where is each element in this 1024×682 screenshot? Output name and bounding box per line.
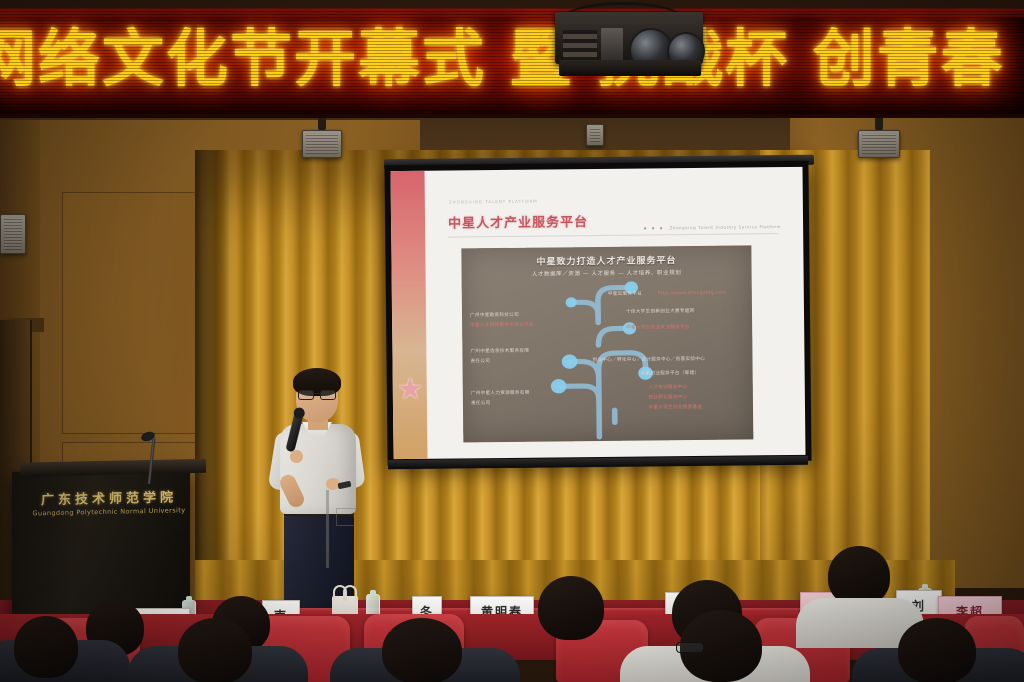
diagram-label: 广州中星信息技术服务有限 [470, 348, 529, 356]
eyeglasses-icon [297, 390, 337, 398]
eyeglasses-icon [676, 642, 704, 653]
diagram-label: http://www.zhongxing.com [658, 290, 727, 298]
slide-meta-dots: ▪ ▪ ▪ [644, 225, 665, 230]
speaker-mount [875, 116, 883, 130]
ceiling-projector-icon [555, 2, 703, 74]
projection-screen: ★ ZHONGXING TALENT PLATFORM 中星人才产业服务平台 ▪… [384, 161, 811, 465]
shirt-pocket [336, 508, 358, 526]
slide-meta-text: Zhongxing Talent Industry Service Platfo… [669, 224, 781, 230]
audience-head [178, 618, 252, 682]
slide-diagram: 中星致力打造人才产业服务平台 人才数据库／资源 — 人才服务 — 人才培养、职业… [461, 245, 753, 442]
wall-speaker-icon [302, 130, 342, 158]
projector-body [555, 12, 703, 64]
diagram-label: · 创业孵化服务中心 [645, 394, 688, 402]
diagram-label: 责任公司 [471, 400, 491, 407]
auditorium-photo: 网络文化节开幕式 暨 挑战杯 创青春 ★ ZHONGXING TALENT PL… [0, 0, 1024, 682]
star-icon: ★ [397, 377, 423, 403]
diagram-label: · 人才培训服务中心 [645, 384, 688, 392]
diagram-label: 责任公司 [470, 358, 490, 365]
diagram-label: 中星创业服务平台（筹建） [641, 370, 700, 378]
lectern-top [20, 459, 206, 477]
branch-tree-diagram-icon [461, 245, 753, 442]
led-banner: 网络文化节开幕式 暨 挑战杯 创青春 [0, 8, 1024, 118]
slide-content: ★ ZHONGXING TALENT PLATFORM 中星人才产业服务平台 ▪… [391, 167, 806, 459]
audience-head [382, 618, 462, 682]
diagram-label: · 中星大学生创业投资基金 [645, 404, 702, 412]
led-banner-text: 网络文化节开幕式 暨 挑战杯 创青春 [0, 24, 1024, 94]
slide-eyebrow-text: ZHONGXING TALENT PLATFORM [449, 199, 538, 205]
ceiling-sensor-icon [586, 124, 604, 146]
audience-head [898, 618, 976, 682]
slide-left-accent-band [391, 171, 428, 459]
wall-speaker-icon [858, 130, 900, 158]
wall-speaker-icon [0, 214, 26, 254]
presenter-left-hand [290, 450, 303, 463]
diagram-label: 中星云服务平台 [608, 291, 642, 298]
audience-head [828, 546, 890, 606]
diagram-label: 创业中心／孵化中心／设计服务中心／创客实验中心 [592, 356, 705, 364]
diagram-label: 广州中星人力资源服务有限 [471, 390, 530, 398]
diagram-label: 十佳大学生创新创业大赛专题网 [626, 308, 695, 316]
slide-meta: ▪ ▪ ▪Zhongxing Talent Industry Service P… [644, 224, 781, 230]
shirt-placket [326, 490, 329, 568]
banner-top-strip [0, 8, 1024, 18]
diagram-label: 广州中星教育科技公司 [470, 312, 519, 320]
diagram-label: 中星大学生创业就业服务平台 [626, 324, 690, 332]
speaker-mount [318, 116, 326, 130]
slide-divider [448, 233, 778, 237]
lectern-name-cn: 广东技术师范学院 [34, 486, 184, 508]
projector-mount-base [559, 60, 701, 76]
audience-head [14, 616, 78, 678]
slide-title: 中星人才产业服务平台 [448, 211, 588, 231]
diagram-label: 中星人才网络服务与就业平台 [470, 322, 534, 330]
audience-head [538, 576, 604, 640]
